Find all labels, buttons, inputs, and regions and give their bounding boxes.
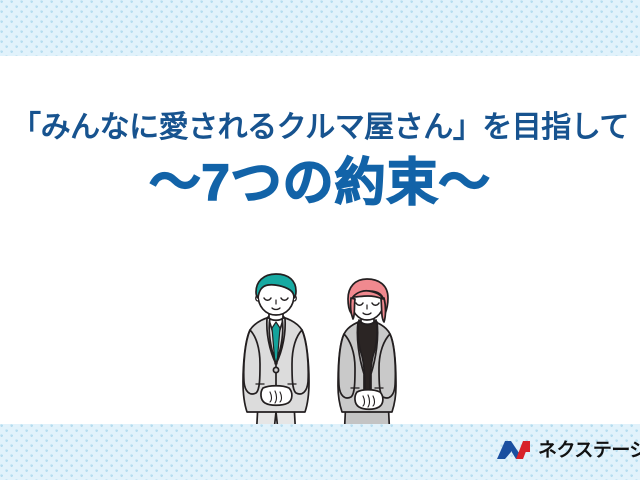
brand-wordmark: ネクステージ: [538, 441, 640, 460]
male-staff-figure: [243, 274, 309, 440]
female-staff-figure: [338, 279, 396, 440]
nextage-n-mark: [496, 438, 531, 462]
top-dotted-band: [0, 0, 640, 56]
headline-primary: 「みんなに愛されるクルマ屋さん」を目指して: [0, 112, 640, 144]
brand-logo: ネクステージ: [496, 438, 640, 462]
headline-accent: 〜7つの約束〜: [0, 156, 640, 210]
headline-block: 「みんなに愛されるクルマ屋さん」を目指して 〜7つの約束〜: [0, 112, 640, 209]
two-bowing-staff-illustration: [236, 272, 416, 440]
banner-image: 「みんなに愛されるクルマ屋さん」を目指して 〜7つの約束〜: [0, 0, 640, 480]
